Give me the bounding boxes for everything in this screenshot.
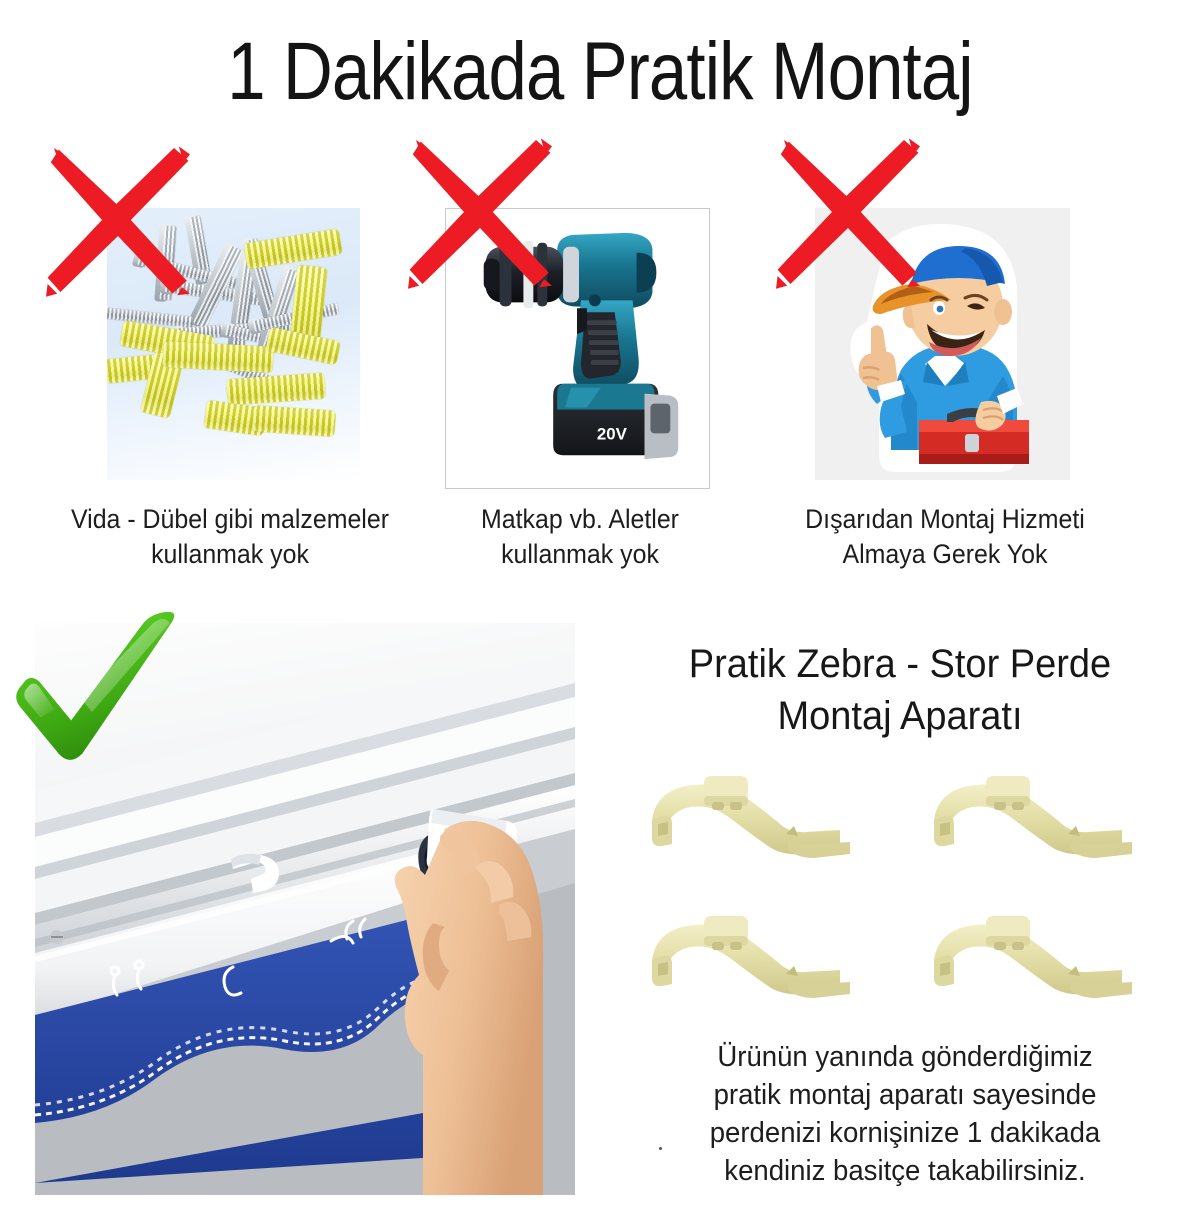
caption-screws: Vida - Dübel gibi malzemeler kullanmak y… xyxy=(33,502,428,572)
mounting-clip xyxy=(920,762,1160,872)
description-line-4: kendiniz basitçe takabilirsiniz. xyxy=(724,1155,1085,1187)
product-description: Ürünün yanında gönderdiğimiz pratik mont… xyxy=(634,1038,1176,1190)
product-heading-line-1: Pratik Zebra - Stor Perde xyxy=(689,642,1111,686)
description-line-1: Ürünün yanında gönderdiğimiz xyxy=(717,1041,1092,1073)
cordless-drill-photo: 20V xyxy=(445,208,710,489)
caption-line-1: Vida - Dübel gibi malzemeler xyxy=(71,504,389,534)
caption-installer: Dışarıdan Montaj Hizmeti Almaya Gerek Yo… xyxy=(771,502,1119,572)
caption-line-2: kullanmak yok xyxy=(151,539,309,569)
battery-voltage-label: 20V xyxy=(597,424,628,443)
infographic-page: 1 Dakikada Pratik Montaj xyxy=(0,0,1200,1215)
mounting-clip xyxy=(920,902,1160,1012)
screws-and-dowels-photo xyxy=(107,208,360,480)
caption-line-1: Matkap vb. Aletler xyxy=(481,504,679,534)
caption-drill: Matkap vb. Aletler kullanmak yok xyxy=(439,502,721,572)
prohibited-items-row: Vida - Dübel gibi malzemeler kullanmak y… xyxy=(0,150,1200,590)
green-check-icon xyxy=(8,612,176,762)
mounting-clip xyxy=(638,902,878,1012)
caption-line-1: Dışarıdan Montaj Hizmeti xyxy=(805,504,1085,534)
repairman-illustration xyxy=(815,208,1070,480)
product-heading-line-2: Montaj Aparatı xyxy=(777,694,1022,738)
stray-dot-mark xyxy=(659,1147,662,1150)
description-line-2: pratik montaj aparatı sayesinde xyxy=(714,1079,1097,1111)
page-title: 1 Dakikada Pratik Montaj xyxy=(96,24,1104,120)
product-heading: Pratik Zebra - Stor Perde Montaj Aparatı xyxy=(615,638,1185,742)
caption-line-2: Almaya Gerek Yok xyxy=(843,539,1048,569)
description-line-3: perdenizi kornişinize 1 dakikada xyxy=(710,1117,1101,1149)
mounting-clip xyxy=(638,762,878,872)
caption-line-2: kullanmak yok xyxy=(501,539,659,569)
mounting-clips-grid xyxy=(620,758,1190,1023)
